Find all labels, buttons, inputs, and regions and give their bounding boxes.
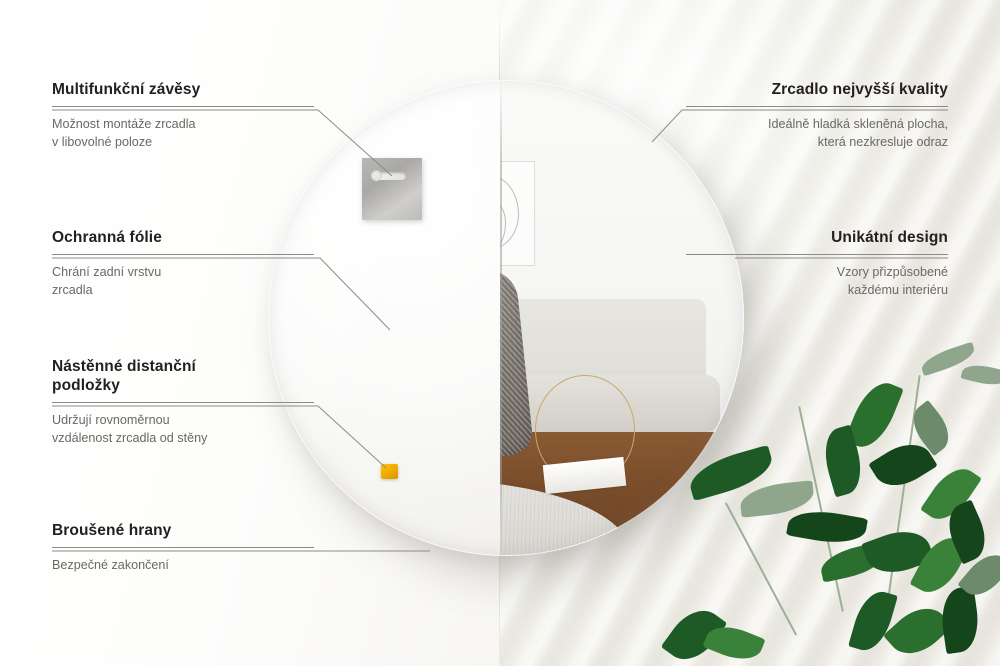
callout-multifunctional-hangers: Multifunkční závěsy Možnost montáže zrca…	[52, 80, 314, 151]
infographic-canvas: Multifunkční závěsy Možnost montáže zrca…	[0, 0, 1000, 666]
callout-rule	[52, 106, 314, 107]
callout-wall-spacers: Nástěnné distanční podložky Udržují rovn…	[52, 357, 314, 447]
callout-polished-edges: Broušené hrany Bezpečné zakončení	[52, 521, 314, 575]
callout-rule	[52, 402, 314, 403]
callout-title: Broušené hrany	[52, 521, 314, 540]
callout-rule	[686, 254, 948, 255]
callout-description: Bezpečné zakončení	[52, 557, 314, 575]
callout-rule	[52, 254, 314, 255]
callout-title: Ochranná fólie	[52, 228, 314, 247]
callout-description: Udržují rovnoměrnou vzdálenost zrcadla o…	[52, 412, 314, 447]
callout-description: Možnost montáže zrcadla v libovolné polo…	[52, 116, 314, 151]
callout-protective-foil: Ochranná fólie Chrání zadní vrstvu zrcad…	[52, 228, 314, 299]
callout-rule	[686, 106, 948, 107]
callout-title: Multifunkční závěsy	[52, 80, 314, 99]
callout-rule	[52, 547, 314, 548]
callout-description: Ideálně hladká skleněná plocha, která ne…	[686, 116, 948, 151]
callout-highest-quality-mirror: Zrcadlo nejvyšší kvality Ideálně hladká …	[686, 80, 948, 151]
callout-title: Nástěnné distanční podložky	[52, 357, 314, 395]
callout-title: Unikátní design	[686, 228, 948, 247]
callout-title: Zrcadlo nejvyšší kvality	[686, 80, 948, 99]
callout-unique-design: Unikátní design Vzory přizpůsobené každé…	[686, 228, 948, 299]
callout-description: Chrání zadní vrstvu zrcadla	[52, 264, 314, 299]
callout-description: Vzory přizpůsobené každému interiéru	[686, 264, 948, 299]
